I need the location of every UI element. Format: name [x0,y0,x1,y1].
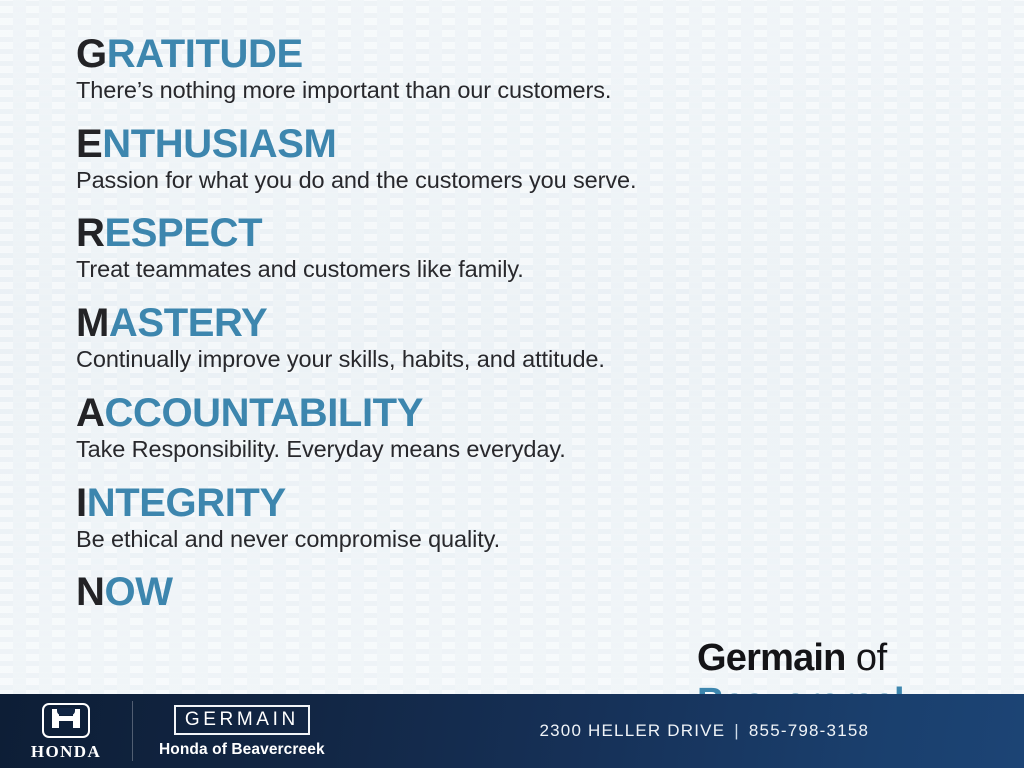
value-heading-rest: NTHUSIASM [102,122,336,166]
value-heading-rest: ESPECT [105,211,263,255]
value-description-gratitude: There’s nothing more important than our … [76,77,1004,105]
value-heading-enthusiasm: ENTHUSIASM [76,124,1004,164]
footer-contact-block: 2300 HELLER DRIVE|855-798-3158 [325,721,1024,741]
value-block-gratitude: GRATITUDE There’s nothing more important… [76,34,1004,105]
footer-separator: | [725,721,749,740]
value-heading-rest: ASTERY [109,301,267,345]
honda-h-logo-icon [42,703,90,738]
value-description-enthusiasm: Passion for what you do and the customer… [76,167,1004,195]
germain-of-light-word: of [846,637,887,679]
value-heading-mastery: MASTERY [76,303,1004,343]
value-heading-integrity: INTEGRITY [76,483,1004,523]
value-block-integrity: INTEGRITY Be ethical and never compromis… [76,483,1004,554]
value-block-now: NOW [76,572,1004,612]
value-initial-letter: E [76,122,102,166]
slide-canvas: GRATITUDE There’s nothing more important… [0,0,1024,768]
honda-wordmark-text: HONDA [31,743,101,760]
germain-of-lockup: Germain of [697,639,887,677]
value-description-mastery: Continually improve your skills, habits,… [76,346,1004,374]
value-description-respect: Treat teammates and customers like famil… [76,256,1004,284]
value-heading-respect: RESPECT [76,213,1004,253]
germain-dealership-name: Honda of Beavercreek [159,742,325,758]
value-heading-gratitude: GRATITUDE [76,34,1004,74]
value-heading-now: NOW [76,572,1004,612]
germain-logo-box: GERMAIN [174,705,310,735]
value-initial-letter: N [76,570,105,614]
value-initial-letter: R [76,211,105,255]
value-initial-letter: M [76,301,109,345]
value-block-accountability: ACCOUNTABILITY Take Responsibility. Ever… [76,393,1004,464]
honda-logo-block: HONDA [0,703,132,760]
value-block-enthusiasm: ENTHUSIASM Passion for what you do and t… [76,124,1004,195]
value-initial-letter: G [76,32,107,76]
value-initial-letter: A [76,391,105,435]
germain-of-bold-word: Germain [697,637,846,679]
value-heading-rest: OW [105,570,173,614]
value-block-mastery: MASTERY Continually improve your skills,… [76,303,1004,374]
value-block-respect: RESPECT Treat teammates and customers li… [76,213,1004,284]
germain-logo-text: GERMAIN [185,710,299,729]
core-values-list: GRATITUDE There’s nothing more important… [76,34,1004,631]
footer-banner: HONDA GERMAIN Honda of Beavercreek 2300 … [0,694,1024,768]
value-heading-rest: RATITUDE [107,32,303,76]
value-heading-rest: CCOUNTABILITY [105,391,423,435]
footer-contact-text: 2300 HELLER DRIVE|855-798-3158 [540,721,870,741]
value-description-integrity: Be ethical and never compromise quality. [76,526,1004,554]
value-heading-accountability: ACCOUNTABILITY [76,393,1004,433]
footer-address: 2300 HELLER DRIVE [540,721,726,740]
value-initial-letter: I [76,481,87,525]
value-description-accountability: Take Responsibility. Everyday means ever… [76,436,1004,464]
footer-phone[interactable]: 855-798-3158 [749,721,869,740]
germain-dealership-logo-block: GERMAIN Honda of Beavercreek [133,705,325,758]
value-heading-rest: NTEGRITY [87,481,286,525]
